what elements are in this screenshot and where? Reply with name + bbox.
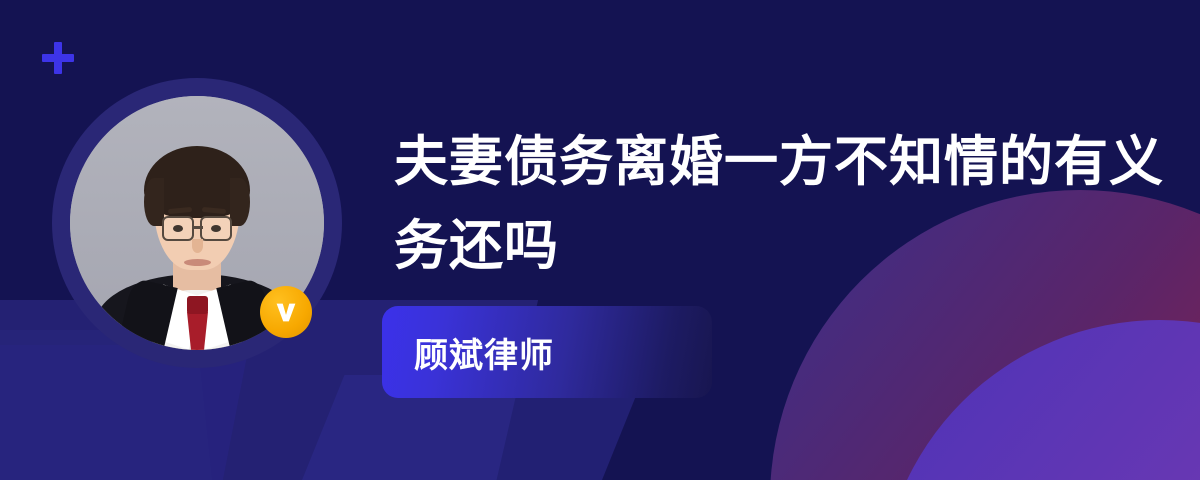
- avatar: [52, 78, 342, 368]
- plus-icon: [40, 40, 76, 76]
- page-title: 夫妻债务离婚一方不知情的有义务还吗: [394, 120, 1184, 288]
- verified-check-icon: [260, 286, 312, 338]
- author-name: 顾斌律师: [382, 328, 554, 377]
- lawyer-question-banner: 夫妻债务离婚一方不知情的有义务还吗 顾斌律师: [0, 0, 1200, 480]
- banner-content: 夫妻债务离婚一方不知情的有义务还吗 顾斌律师: [394, 120, 1184, 398]
- author-chip[interactable]: 顾斌律师: [382, 306, 712, 398]
